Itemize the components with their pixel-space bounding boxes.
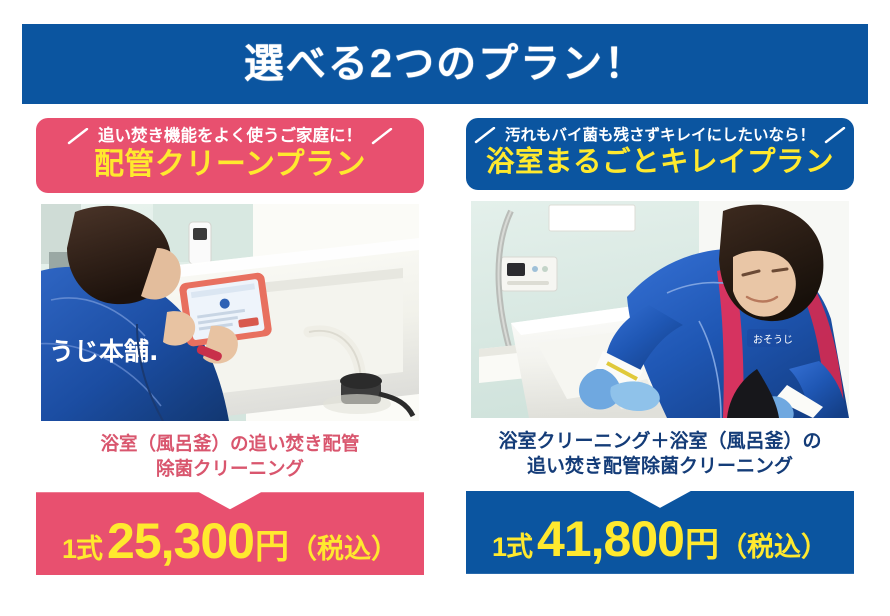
plan-subtitle-row: 追い焚き機能をよく使うご家庭に！ <box>36 127 424 145</box>
photo-illustration-tablet-inspection: うじ本舗. <box>41 204 419 421</box>
plan-card-pipe-clean[interactable]: 追い焚き機能をよく使うご家庭に！ 配管クリーンプラン <box>36 118 424 608</box>
plan-header-bathroom-full-clean: 汚れもバイ菌も残さずキレイにしたいなら！ 浴室まるごとキレイプラン <box>466 118 854 190</box>
plan-list: 追い焚き機能をよく使うご家庭に！ 配管クリーンプラン <box>0 118 890 608</box>
price-amount: 41,800 <box>537 510 684 568</box>
photo-illustration-tub-scrubbing: おそうじ <box>471 201 849 418</box>
price-unit: 1式 <box>62 527 102 566</box>
svg-text:おそうじ: おそうじ <box>753 334 793 346</box>
slash-right-icon <box>371 128 393 145</box>
svg-text:うじ本舗.: うじ本舗. <box>49 337 159 366</box>
plan-price-box-bathroom-full-clean: 1式 41,800 円 （税込） <box>466 491 854 574</box>
price-line: 1式 25,300 円 （税込） <box>62 512 398 570</box>
plan-subtitle-row: 汚れもバイ菌も残さずキレイにしたいなら！ <box>466 127 854 144</box>
plan-caption-pipe-clean: 浴室（風呂釜）の追い焚き配管 除菌クリーニング <box>100 432 359 482</box>
plan-title-pipe-clean: 配管クリーンプラン <box>36 148 424 182</box>
plan-title-bathroom-full-clean: 浴室まるごとキレイプラン <box>466 147 854 179</box>
page-title: 選べる2つのプラン！ <box>244 44 646 84</box>
price-currency: 円 <box>255 519 289 568</box>
plan-photo-bathroom-full-clean: おそうじ <box>471 201 849 418</box>
slash-left-icon <box>474 127 496 144</box>
plan-card-bathroom-full-clean[interactable]: 汚れもバイ菌も残さずキレイにしたいなら！ 浴室まるごとキレイプラン <box>466 118 854 608</box>
page-banner: 選べる2つのプラン！ <box>22 24 868 104</box>
price-tax-note: （税込） <box>720 525 828 564</box>
plan-subtitle-text: 汚れもバイ菌も残さずキレイにしたいなら！ <box>505 127 815 144</box>
price-unit: 1式 <box>492 525 532 564</box>
plan-photo-pipe-clean: うじ本舗. <box>41 204 419 421</box>
price-currency: 円 <box>685 517 719 566</box>
plan-caption-bathroom-full-clean: 浴室クリーニング＋浴室（風呂釜）の 追い焚き配管除菌クリーニング <box>498 429 821 480</box>
plan-price-box-pipe-clean: 1式 25,300 円 （税込） <box>36 492 424 575</box>
price-line: 1式 41,800 円 （税込） <box>492 510 828 568</box>
slash-right-icon <box>824 127 846 144</box>
plan-header-pipe-clean: 追い焚き機能をよく使うご家庭に！ 配管クリーンプラン <box>36 118 424 193</box>
price-amount: 25,300 <box>107 512 254 570</box>
slash-left-icon <box>67 128 89 145</box>
plan-subtitle-text: 追い焚き機能をよく使うご家庭に！ <box>98 127 362 145</box>
price-tax-note: （税込） <box>290 527 398 566</box>
